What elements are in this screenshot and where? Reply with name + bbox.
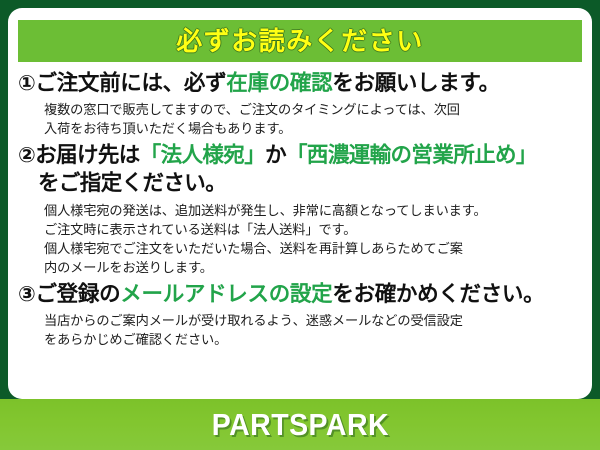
section-2-headline-pre: お届け先は: [35, 143, 140, 167]
section-2-headline-highlight: 「法人様宛」: [140, 143, 265, 167]
section-2-headline-post: をご指定ください。: [38, 170, 584, 198]
section-1-number: ①: [18, 72, 35, 95]
section-1-headline-highlight: 在庫の確認: [226, 71, 332, 95]
section-2-headline: ②お届け先は「法人様宛」か「西濃運輸の営業所止め」をご指定ください。: [18, 142, 584, 197]
brand-name: PARTSPARK: [211, 409, 388, 440]
section-3-number: ③: [18, 283, 35, 306]
section-2-headline-mid: か: [265, 143, 286, 167]
section-1-headline-pre: ご注文前には、必ず: [35, 71, 226, 95]
notice-card: 必ずお読みください ①ご注文前には、必ず在庫の確認をお願いします。 複数の窓口で…: [8, 8, 592, 399]
notice-content: ①ご注文前には、必ず在庫の確認をお願いします。 複数の窓口で販売してますので、ご…: [8, 70, 592, 353]
brand-footer: PARTSPARK: [0, 399, 600, 450]
notice-section-2: ②お届け先は「法人様宛」か「西濃運輸の営業所止め」をご指定ください。 個人様宅宛…: [18, 142, 584, 277]
section-3-headline: ③ご登録のメールアドレスの設定をお確かめください。: [18, 281, 584, 309]
notice-section-1: ①ご注文前には、必ず在庫の確認をお願いします。 複数の窓口で販売してますので、ご…: [18, 70, 584, 138]
section-1-headline-post: をお願いします。: [332, 71, 499, 95]
section-3-headline-highlight: メールアドレスの設定: [120, 282, 332, 306]
section-3-headline-post: をお確かめください。: [332, 282, 544, 306]
section-1-headline: ①ご注文前には、必ず在庫の確認をお願いします。: [18, 70, 584, 98]
notice-section-3: ③ご登録のメールアドレスの設定をお確かめください。 当店からのご案内メールが受け…: [18, 281, 584, 349]
section-2-headline-highlight-2: 「西濃運輸の営業所止め」: [286, 143, 537, 167]
notice-title: 必ずお読みください: [176, 28, 424, 54]
section-3-headline-pre: ご登録の: [35, 282, 120, 306]
section-2-number: ②: [18, 144, 35, 167]
section-2-body: 個人様宅宛の発送は、追加送料が発生し、非常に高額となってしまいます。 ご注文時に…: [44, 201, 584, 278]
section-1-body: 複数の窓口で販売してますので、ご注文のタイミングによっては、次回 入荷をお待ち頂…: [44, 100, 584, 138]
notice-banner-image: 必ずお読みください ①ご注文前には、必ず在庫の確認をお願いします。 複数の窓口で…: [0, 0, 600, 450]
notice-header-banner: 必ずお読みください: [18, 20, 582, 62]
section-3-body: 当店からのご案内メールが受け取れるよう、迷惑メールなどの受信設定 をあらかじめご…: [44, 311, 584, 349]
